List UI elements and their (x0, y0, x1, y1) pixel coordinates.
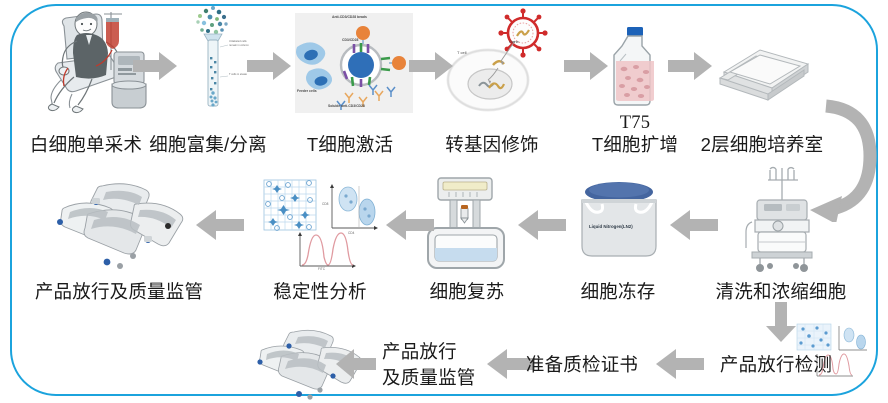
t-cell-activation-diagram-icon: Anti-CD3/CD28 beads CD3/CD28 Feeder cell… (295, 13, 413, 113)
arrow-r1-4 (564, 52, 608, 80)
step-label-release-qa-row2: 产品放行及质量监管 (35, 281, 203, 303)
step-label-coa-prep: 准备质检证书 (526, 354, 638, 376)
step-label-enrichment: 细胞富集/分离 (149, 134, 267, 156)
arrow-r2-2 (386, 210, 434, 240)
arrow-r3-1 (656, 349, 704, 379)
activation-soluble-label: Soluble anti-CD3/CD28 (328, 104, 365, 108)
step-label-cryopreservation: 细胞冻存 (581, 281, 656, 303)
stability-analysis-charts-icon: CD8 CD4 FITC (262, 176, 382, 272)
arrow-r2-3 (518, 210, 566, 240)
arrow-r1-1 (133, 52, 177, 80)
arrow-r1-2 (247, 52, 291, 80)
stability-x-axis-label: CD4 (348, 231, 354, 235)
arrow-uturn-right (790, 92, 886, 222)
flask-size-label: T75 (620, 113, 650, 135)
transduction-tcell-label: T cell (457, 50, 466, 55)
step-label-thawing: 细胞复苏 (430, 281, 505, 303)
step-label-apheresis: 白细胞单采术 (30, 134, 142, 156)
step-label-release-qa-row3-line1: 产品放行 (382, 341, 457, 363)
arrow-r2-1 (196, 210, 244, 240)
step-label-release-qa-row3-line2: 及质量监管 (382, 367, 476, 389)
step-label-release-testing: 产品放行检测 (720, 354, 832, 376)
step-label-activation: T细胞激活 (307, 134, 393, 156)
workflow-diagram: Unlabeled cells remain in column T cells… (0, 0, 888, 403)
activation-beads-label: Anti-CD3/CD28 beads (332, 15, 367, 19)
separation-unlabeled-note: Unlabeled cells (229, 40, 247, 43)
gene-transduction-diagram-icon: T cell Gene (443, 8, 555, 116)
t75-flask-icon (608, 25, 662, 110)
transduction-gene-label: Gene (509, 39, 519, 44)
step-label-transduction: 转基因修饰 (445, 134, 539, 156)
arrow-r1-5 (668, 52, 712, 80)
cryobag-stack-icon (58, 178, 188, 270)
liquid-nitrogen-dewar-icon: Liquid Nitrogen(LN2) (576, 180, 662, 262)
stability-y-axis-label: CD8 (322, 202, 328, 206)
water-bath-thawer-icon (424, 176, 508, 270)
dewar-label: Liquid Nitrogen(LN2) (589, 224, 633, 229)
stability-hist-label: FITC (318, 267, 325, 271)
arrow-r2-4 (670, 210, 718, 240)
step-label-wash-concentrate: 清洗和浓缩细胞 (716, 281, 847, 303)
activation-feeder-label: Feeder cells (297, 89, 317, 93)
arrow-down-to-row3 (766, 302, 796, 342)
step-label-cell-factory: 2层细胞培养室 (701, 134, 824, 156)
activation-receptor-label: CD3/CD28 (342, 38, 358, 42)
arrow-r3-3 (336, 349, 376, 379)
magnetic-separation-column-icon: Unlabeled cells remain in column T cells… (186, 5, 256, 115)
step-label-expansion: T细胞扩增 (592, 134, 678, 156)
separation-unlabeled-note2: remain in column (229, 44, 249, 47)
separation-tcell-note: T cells in eluate (229, 73, 247, 76)
step-label-stability: 稳定性分析 (273, 281, 367, 303)
arrow-r1-3 (409, 52, 453, 80)
